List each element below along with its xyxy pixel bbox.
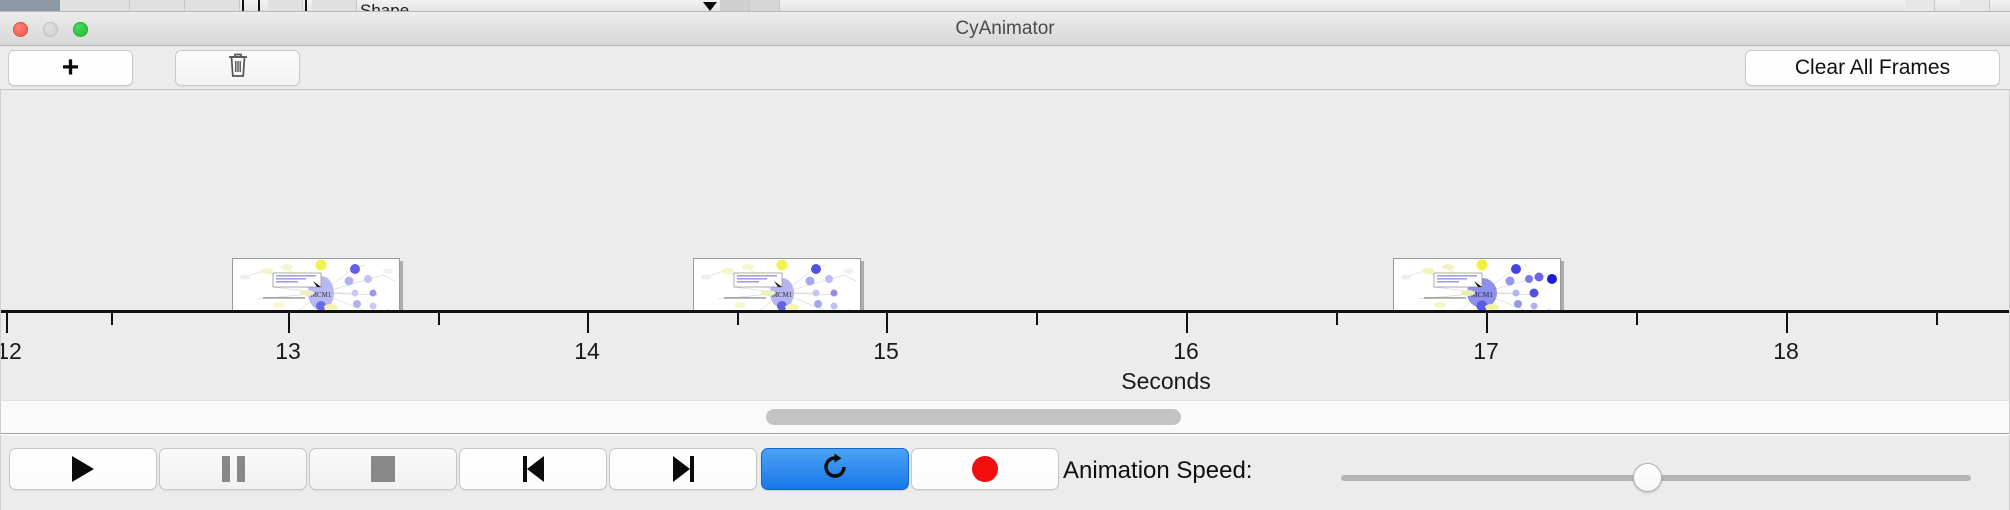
svg-text:MCM1: MCM1 [311,291,332,299]
timeline-scrollbar[interactable] [0,400,2010,434]
skip-back-icon [523,456,544,482]
play-button[interactable] [9,448,157,490]
loop-button[interactable] [761,448,909,490]
axis-tick-major [6,313,8,333]
record-icon [972,456,998,482]
bg-chip [130,0,185,12]
pause-button[interactable] [159,448,307,490]
pause-icon [222,456,245,482]
bg-chip [268,0,303,12]
axis-line [1,310,2010,313]
bg-chip [185,0,240,12]
bg-window-label: Shape [360,1,409,12]
stop-button[interactable] [309,448,457,490]
bg-chip [1960,0,1990,12]
axis-tick-label: 15 [873,338,899,365]
bg-chip [720,0,750,12]
axis-tick-label: 16 [1173,338,1199,365]
plus-icon: + [62,56,80,80]
last-frame-button[interactable] [609,448,757,490]
background-window-strip: Shape [0,0,2010,12]
delete-frame-button[interactable] [175,50,300,86]
axis-tick-label: 18 [1773,338,1799,365]
bg-tick [258,0,260,11]
timeline-track[interactable]: MCM1 [0,90,2010,320]
axis-tick-minor [111,313,113,325]
axis-tick-label: 12 [0,338,22,365]
bg-chip [60,0,130,12]
svg-text:MCM1: MCM1 [772,291,793,299]
toolbar: + Clear All Frames [0,46,2010,90]
loop-icon [820,452,850,487]
svg-text:MCM1: MCM1 [1471,290,1493,299]
axis-tick-minor [1036,313,1038,325]
axis-tick-label: 17 [1473,338,1499,365]
window-title: CyAnimator [0,12,2010,46]
axis-tick-major [1486,313,1488,333]
axis-tick-minor [737,313,739,325]
axis-tick-minor [438,313,440,325]
bg-tick [305,0,307,11]
bg-chip [312,0,357,12]
bg-chip [750,0,780,12]
axis-tick-major [1186,313,1188,333]
axis-tick-major [288,313,290,333]
axis-tick-minor [1936,313,1938,325]
animation-speed-label: Animation Speed: [1063,457,1252,485]
scrollbar-thumb[interactable] [766,409,1181,425]
axis-tick-major [1786,313,1788,333]
bg-dark-chip [0,0,60,12]
timeline-axis: 12 13 14 15 16 17 18 Seconds [0,310,2010,400]
axis-tick-minor [1636,313,1638,325]
stop-icon [371,456,395,482]
playback-control-bar: Animation Speed: [0,435,2010,510]
add-frame-button[interactable]: + [8,50,133,86]
bg-chip [1905,0,1935,12]
bg-tick [242,0,244,11]
axis-tick-minor [1336,313,1338,325]
trash-icon [226,51,250,85]
skip-forward-icon [673,456,694,482]
animation-speed-slider-thumb[interactable] [1633,463,1662,492]
clear-all-frames-label: Clear All Frames [1795,56,1950,80]
axis-tick-major [886,313,888,333]
play-icon [72,456,94,482]
axis-title-seconds: Seconds [1121,368,1211,395]
axis-tick-label: 13 [275,338,301,365]
clear-all-frames-button[interactable]: Clear All Frames [1745,50,2000,86]
record-button[interactable] [911,448,1059,490]
first-frame-button[interactable] [459,448,607,490]
bg-arrow-icon [703,2,717,11]
axis-tick-label: 14 [574,338,600,365]
window-titlebar: CyAnimator [0,12,2010,46]
axis-tick-major [587,313,589,333]
